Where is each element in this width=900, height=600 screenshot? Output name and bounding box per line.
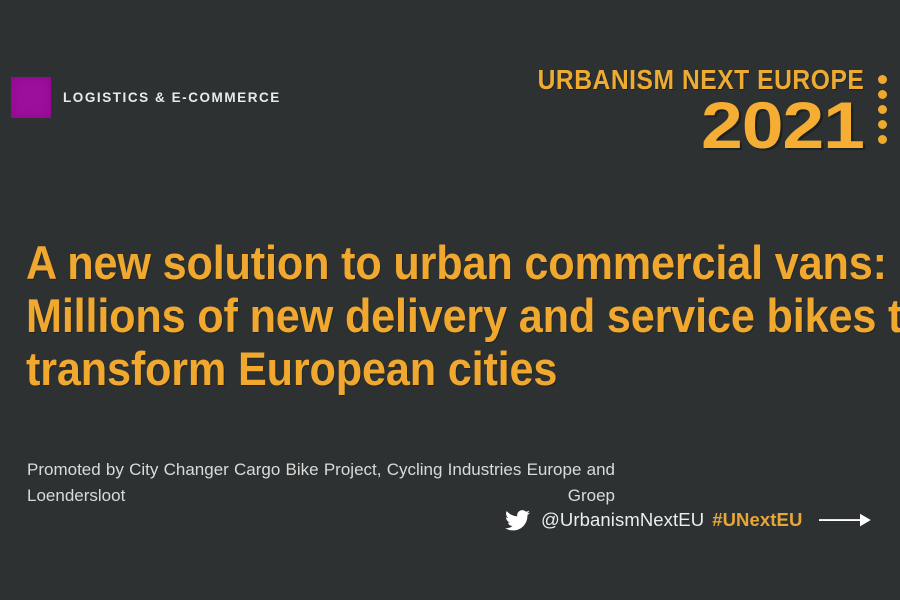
slide-headline: A new solution to urban commercial vans:… — [26, 237, 790, 395]
dots-decoration-icon — [878, 75, 887, 144]
dot-icon — [878, 135, 887, 144]
headline-line-3: transform European cities — [26, 343, 790, 396]
social-footer: @UrbanismNextEU #UNextEU — [505, 506, 871, 534]
event-logo-text: URBANISM NEXT EUROPE 2021 — [493, 66, 864, 152]
headline-line-1: A new solution to urban commercial vans: — [26, 237, 790, 290]
dot-icon — [878, 105, 887, 114]
twitter-bird-icon[interactable] — [505, 510, 530, 531]
arrow-right-icon — [819, 513, 871, 527]
headline-line-2: Millions of new delivery and service bik… — [26, 290, 790, 343]
magenta-square-icon — [11, 77, 51, 118]
track-badge-label: LOGISTICS & E-COMMERCE — [63, 91, 281, 105]
event-year: 2021 — [701, 98, 864, 152]
event-hashtag[interactable]: #UNextEU — [712, 509, 802, 531]
dot-icon — [878, 75, 887, 84]
dot-icon — [878, 90, 887, 99]
twitter-handle[interactable]: @UrbanismNextEU — [541, 509, 704, 531]
presentation-slide: LOGISTICS & E-COMMERCE URBANISM NEXT EUR… — [0, 0, 900, 600]
track-badge: LOGISTICS & E-COMMERCE — [11, 77, 281, 118]
event-logo: URBANISM NEXT EUROPE 2021 — [493, 66, 887, 152]
dot-icon — [878, 120, 887, 129]
